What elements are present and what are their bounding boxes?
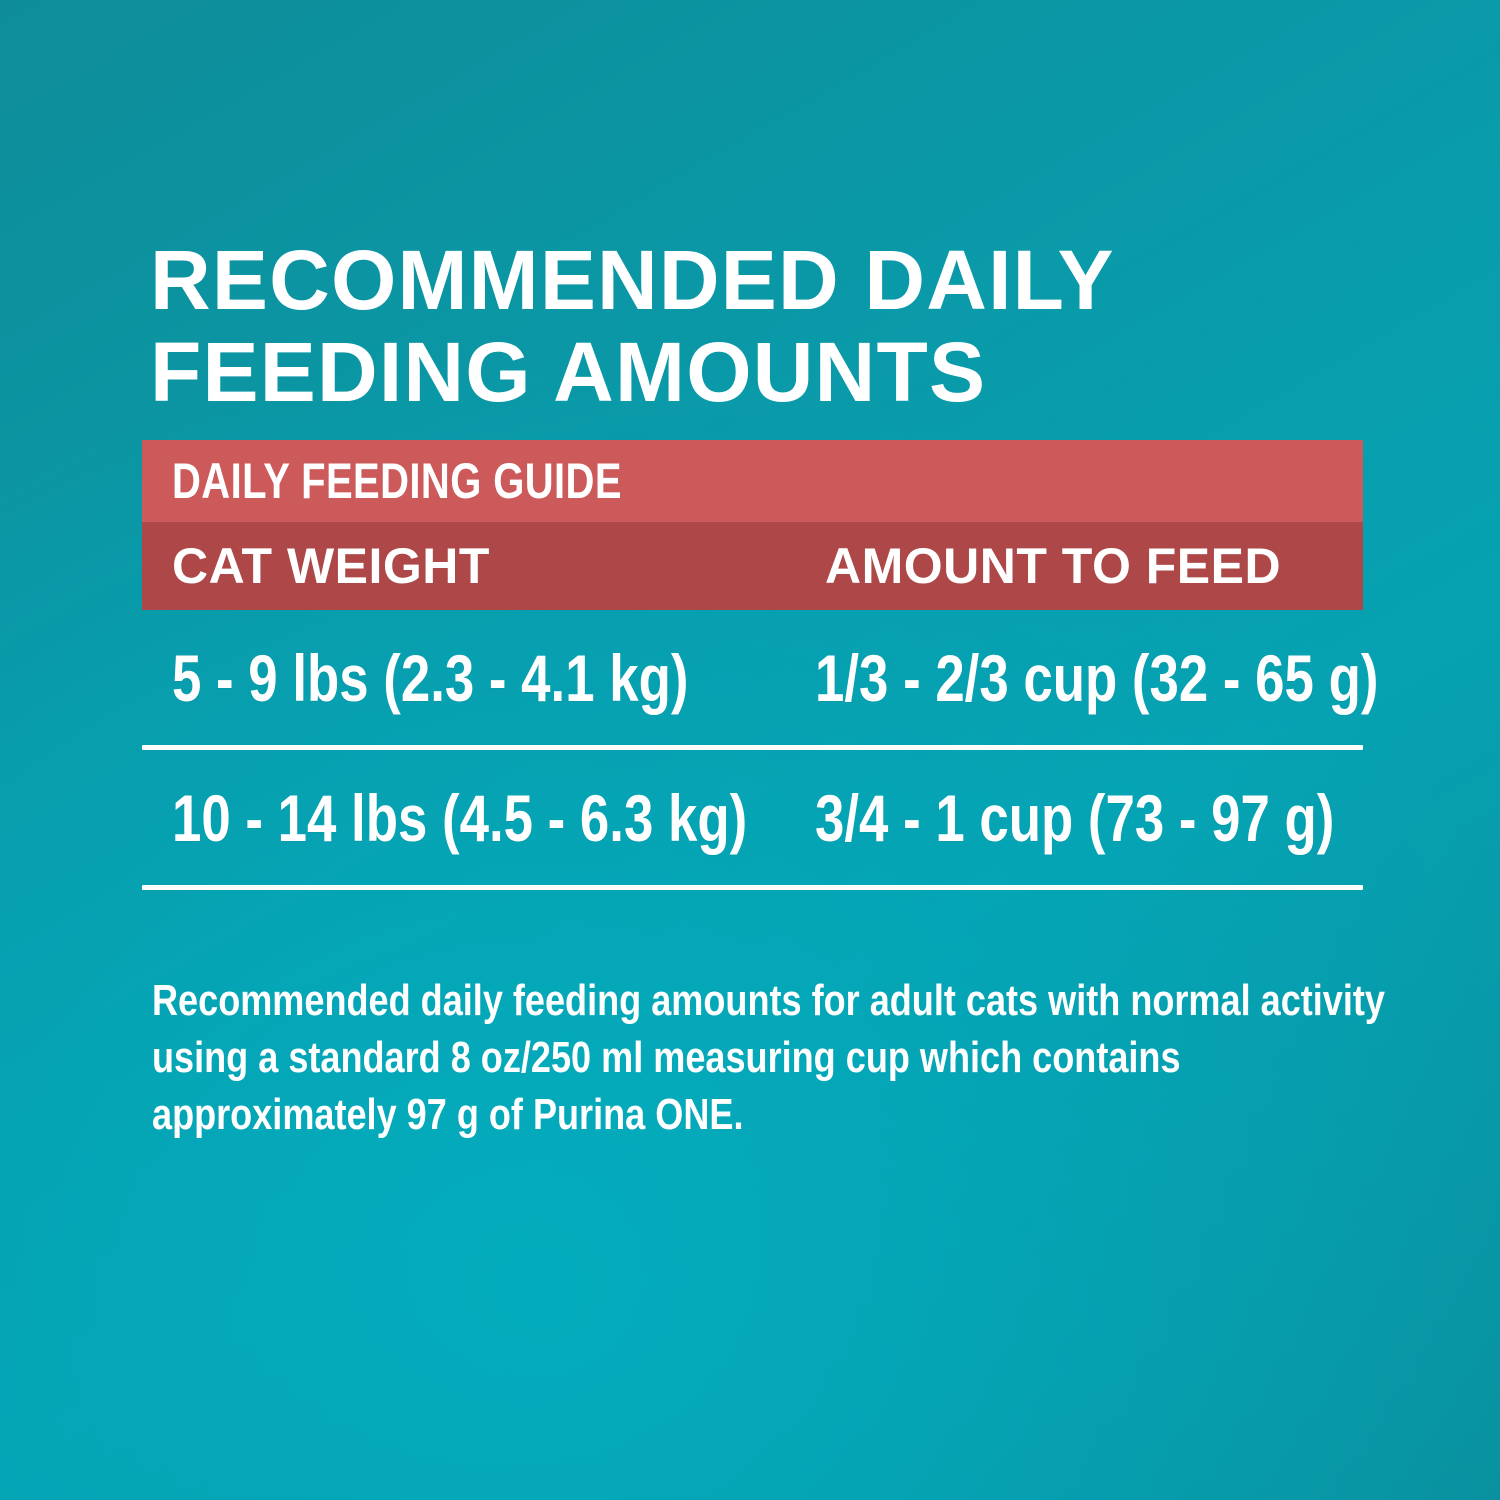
- cell-amount-to-feed: 1/3 - 2/3 cup (32 - 65 g): [815, 643, 1378, 713]
- page-title: RECOMMENDED DAILY FEEDING AMOUNTS: [150, 234, 1390, 418]
- table-title-band: DAILY FEEDING GUIDE: [142, 440, 1363, 522]
- column-header-amount-to-feed: AMOUNT TO FEED: [825, 541, 1281, 591]
- table-row: 10 - 14 lbs (4.5 - 6.3 kg) 3/4 - 1 cup (…: [142, 750, 1363, 885]
- footnote-line-1: Recommended daily feeding amounts for ad…: [152, 972, 1185, 1029]
- daily-feeding-table: DAILY FEEDING GUIDE CAT WEIGHT AMOUNT TO…: [142, 440, 1363, 890]
- table-title-label: DAILY FEEDING GUIDE: [172, 456, 622, 506]
- cell-cat-weight: 10 - 14 lbs (4.5 - 6.3 kg): [172, 783, 747, 853]
- page-title-line-1: RECOMMENDED DAILY: [150, 234, 1390, 326]
- table-bottom-divider: [142, 885, 1363, 890]
- column-header-cat-weight: CAT WEIGHT: [172, 541, 490, 591]
- cell-cat-weight: 5 - 9 lbs (2.3 - 4.1 kg): [172, 643, 688, 713]
- table-row: 5 - 9 lbs (2.3 - 4.1 kg) 1/3 - 2/3 cup (…: [142, 610, 1363, 745]
- table-header-row: CAT WEIGHT AMOUNT TO FEED: [142, 522, 1363, 610]
- footnote-line-3: approximately 97 g of Purina ONE.: [152, 1086, 1185, 1143]
- feeding-guide-panel: RECOMMENDED DAILY FEEDING AMOUNTS DAILY …: [0, 0, 1500, 1500]
- cell-amount-to-feed: 3/4 - 1 cup (73 - 97 g): [815, 783, 1334, 853]
- page-title-line-2: FEEDING AMOUNTS: [150, 326, 1390, 418]
- footnote-text: Recommended daily feeding amounts for ad…: [152, 972, 1412, 1143]
- footnote-line-2: using a standard 8 oz/250 ml measuring c…: [152, 1029, 1185, 1086]
